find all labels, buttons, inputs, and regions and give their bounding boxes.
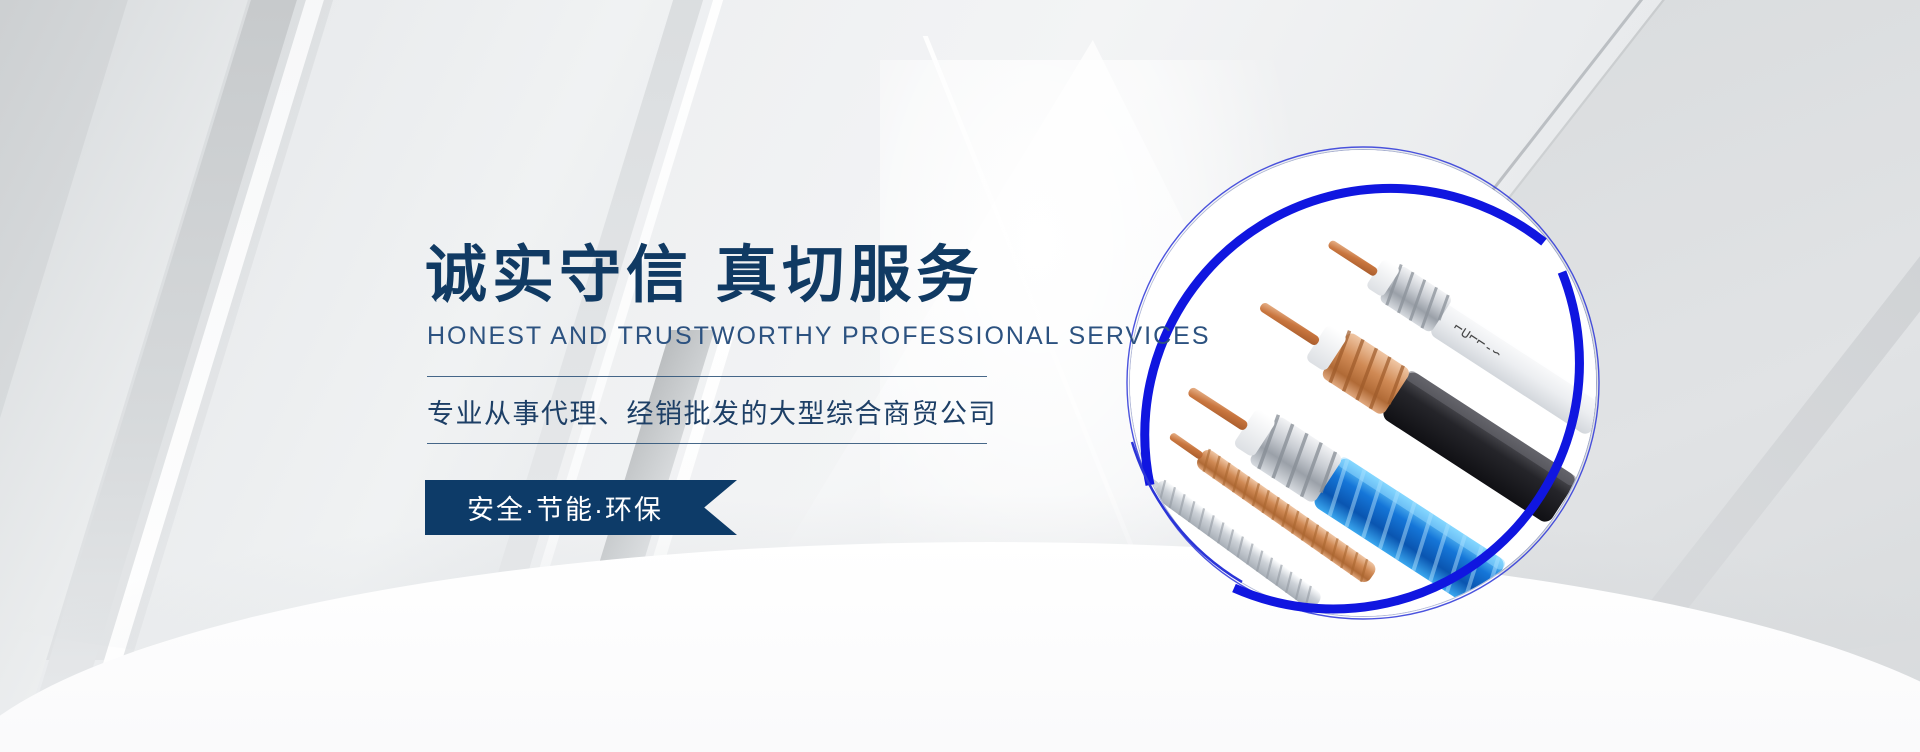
hero-banner: ⌐∪⌐⌐-∽	[0, 0, 1920, 752]
feature-ribbon-label: 安全·节能·环保	[425, 488, 663, 527]
page-title: 诚实守信 真切服务	[425, 245, 983, 307]
divider-bottom	[427, 443, 987, 444]
subtitle-english: HONEST AND TRUSTWORTHY PROFESSIONAL SERV…	[427, 322, 1211, 351]
feature-ribbon: 安全·节能·环保	[425, 480, 737, 535]
divider-top	[427, 376, 987, 377]
banner-content: 诚实守信 真切服务 HONEST AND TRUSTWORTHY PROFESS…	[0, 0, 1920, 752]
subtitle-chinese: 专业从事代理、经销批发的大型综合商贸公司	[427, 392, 997, 431]
